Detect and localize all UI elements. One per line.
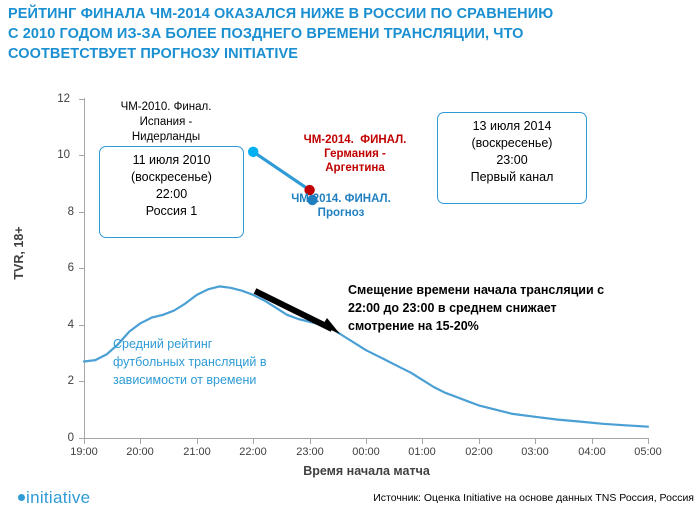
label-wc2014-line-3: Аргентина (290, 161, 420, 175)
note-shift-line-3: смотрение на 15-20% (348, 317, 678, 335)
label-wc2010-line-3: Нидерланды (86, 130, 246, 145)
initiative-logo: initiative (18, 488, 90, 508)
label-wc2014-line-1: ЧМ-2014. ФИНАЛ. (290, 133, 420, 147)
note-shift-line-1: Смещение времени начала трансляции с (348, 281, 678, 299)
shift-arrow-icon (255, 291, 340, 334)
note-curve-line-1: Средний рейтинг (113, 335, 323, 353)
datapoint-wc2010 (248, 147, 258, 157)
logo-dot-icon (18, 494, 25, 501)
label-wc2010-line-2: Испания - (86, 115, 246, 130)
callout-right-line-4: Первый канал (446, 169, 578, 186)
logo-text: initiative (26, 488, 90, 507)
note-curve-description: Средний рейтинг футбольных трансляций в … (113, 335, 323, 389)
x-axis-title: Время начала матча (84, 464, 649, 478)
slide: РЕЙТИНГ ФИНАЛА ЧМ-2014 ОКАЗАЛСЯ НИЖЕ В Р… (0, 0, 700, 516)
callout-right-line-3: 23:00 (446, 152, 578, 169)
note-curve-line-3: зависимости от времени (113, 371, 323, 389)
callout-left-2010: 11 июля 2010 (воскресенье) 22:00 Россия … (99, 146, 244, 238)
callout-right-line-1: 13 июля 2014 (446, 118, 578, 135)
callout-left-line-4: Россия 1 (108, 203, 235, 220)
title-line-2: С 2010 ГОДОМ ИЗ-ЗА БОЛЕЕ ПОЗДНЕГО ВРЕМЕН… (8, 24, 692, 44)
source-note: Источник: Оценка Initiative на основе да… (373, 492, 694, 504)
label-wc2014-line-2: Германия - (290, 147, 420, 161)
label-forecast-line-2: Прогноз (266, 206, 416, 220)
callout-left-line-2: (воскресенье) (108, 169, 235, 186)
note-curve-line-2: футбольных трансляций в (113, 353, 323, 371)
chart: 0 2 4 6 8 10 12 TVR, 18+ 19:00 20:00 21:… (0, 86, 700, 466)
callout-right-2014: 13 июля 2014 (воскресенье) 23:00 Первый … (437, 112, 587, 204)
page-title: РЕЙТИНГ ФИНАЛА ЧМ-2014 ОКАЗАЛСЯ НИЖЕ В Р… (8, 4, 692, 64)
callout-right-line-2: (воскресенье) (446, 135, 578, 152)
note-shift-description: Смещение времени начала трансляции с 22:… (348, 281, 678, 335)
label-wc2014-actual: ЧМ-2014. ФИНАЛ. Германия - Аргентина (290, 133, 420, 175)
label-forecast-line-1: ЧМ-2014. ФИНАЛ. (266, 192, 416, 206)
note-shift-line-2: 22:00 до 23:00 в среднем снижает (348, 299, 678, 317)
callout-left-line-1: 11 июля 2010 (108, 152, 235, 169)
title-line-1: РЕЙТИНГ ФИНАЛА ЧМ-2014 ОКАЗАЛСЯ НИЖЕ В Р… (8, 4, 692, 24)
label-wc2010-line-1: ЧМ-2010. Финал. (86, 100, 246, 115)
label-wc2010-point: ЧМ-2010. Финал. Испания - Нидерланды (86, 100, 246, 145)
label-wc2014-forecast: ЧМ-2014. ФИНАЛ. Прогноз (266, 192, 416, 220)
title-line-3: СООТВЕТСТВУЕТ ПРОГНОЗУ INITIATIVE (8, 44, 692, 64)
callout-left-line-3: 22:00 (108, 186, 235, 203)
